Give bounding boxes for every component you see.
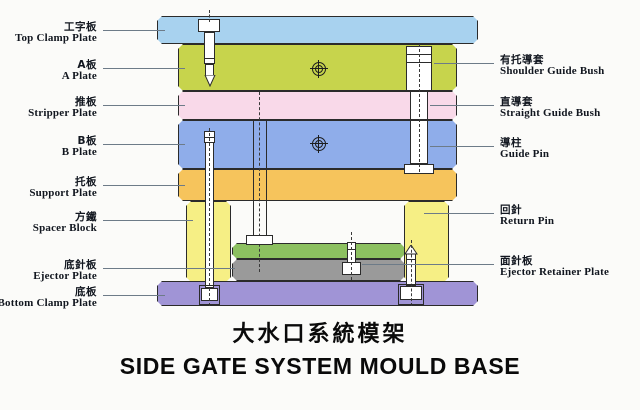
- label-guide-pin: 導柱 Guide Pin: [500, 138, 549, 161]
- leader-return-pin: [424, 213, 494, 214]
- part-center-sleeve-head: [246, 235, 273, 245]
- ejector-pin-left-centerline: [209, 128, 210, 306]
- diagram-title: 大水口系統模架 SIDE GATE SYSTEM MOULD BASE: [0, 316, 640, 380]
- bottom-clamp-counterbore-right: [398, 284, 424, 305]
- leader-ejector-retainer-plate: [362, 264, 494, 265]
- center-sleeve-right-wall: [266, 120, 267, 245]
- leader-ejector-plate: [103, 268, 235, 269]
- title-chinese: 大水口系統模架: [0, 316, 640, 348]
- leader-straight-guide-bush: [430, 105, 494, 106]
- label-shoulder-guide-bush: 有托導套 Shoulder Guide Bush: [500, 55, 604, 78]
- cap-screw-tip-icon: [203, 75, 217, 87]
- bottom-clamp-counterbore-left: [199, 285, 220, 305]
- leader-shoulder-guide-bush: [434, 63, 494, 64]
- center-sleeve-centerline: [259, 92, 260, 272]
- part-ejector-retainer-plate: [232, 259, 405, 281]
- label-support-plate: 托板 Support Plate: [29, 177, 97, 200]
- label-top-clamp-plate: 工字板 Top Clamp Plate: [15, 22, 97, 45]
- cap-screw-centerline: [209, 10, 210, 22]
- leader-top-clamp-plate: [103, 30, 165, 31]
- label-ejector-plate: 底針板 Ejector Plate: [33, 260, 97, 283]
- mould-base-diagram-page: 工字板 Top Clamp Plate A板 A Plate 推板 Stripp…: [0, 0, 640, 410]
- label-ejector-retainer-plate: 面針板 Ejector Retainer Plate: [500, 256, 609, 279]
- leader-bottom-clamp-plate: [103, 295, 165, 296]
- center-sleeve-left-wall: [253, 120, 254, 245]
- label-spacer-block: 方鐵 Spacer Block: [33, 212, 97, 235]
- label-straight-guide-bush: 直導套 Straight Guide Bush: [500, 97, 600, 120]
- target-symbol-a-plate: [310, 60, 328, 78]
- target-symbol-b-plate: [310, 135, 328, 153]
- cap-screw-thread-line-1: [204, 58, 215, 59]
- label-a-plate: A板 A Plate: [62, 60, 97, 83]
- leader-b-plate: [103, 144, 185, 145]
- label-return-pin: 回針 Return Pin: [500, 205, 554, 228]
- leader-stripper-plate: [103, 105, 185, 106]
- ejector-pin-right-centerline: [351, 232, 352, 280]
- leader-spacer-block: [103, 220, 193, 221]
- leader-support-plate: [103, 185, 185, 186]
- label-b-plate: B板 B Plate: [62, 136, 97, 159]
- part-ejector-plate: [232, 243, 405, 259]
- leader-guide-pin: [430, 146, 494, 147]
- guide-pin-centerline: [419, 44, 420, 172]
- part-cap-screw-shank: [204, 32, 215, 64]
- leader-a-plate: [103, 68, 185, 69]
- title-english: SIDE GATE SYSTEM MOULD BASE: [0, 353, 640, 380]
- label-bottom-clamp-plate: 底板 Bottom Clamp Plate: [0, 287, 97, 310]
- label-stripper-plate: 推板 Stripper Plate: [28, 97, 97, 120]
